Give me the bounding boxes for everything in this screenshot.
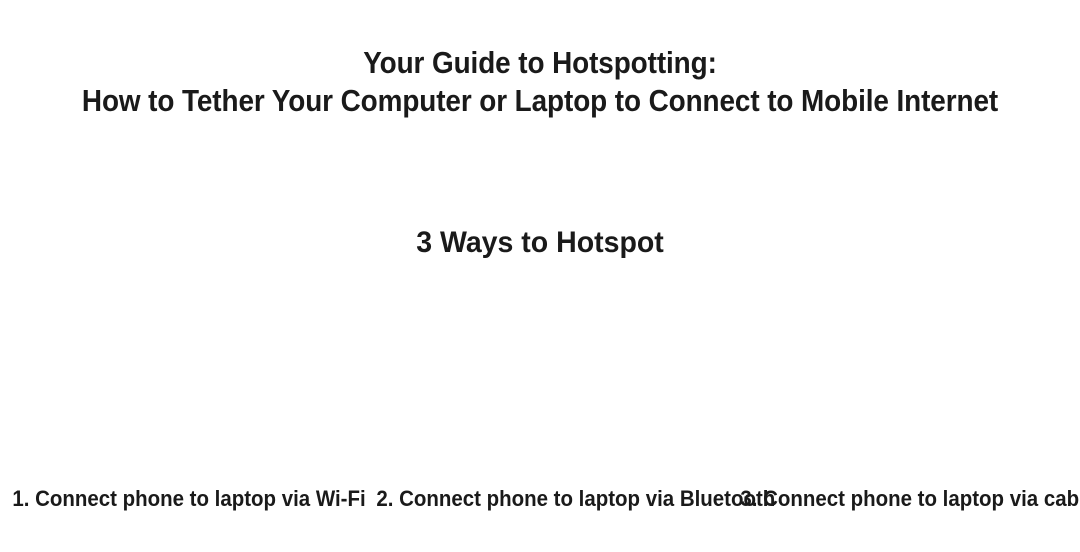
steps-illustration-row: [0, 285, 1080, 475]
step-illustration-1: [0, 285, 330, 475]
document-page: Your Guide to Hotspotting: How to Tether…: [0, 0, 1080, 552]
page-title: Your Guide to Hotspotting: How to Tether…: [0, 44, 1080, 120]
section-heading: 3 Ways to Hotspot: [27, 224, 1053, 262]
step-illustration-3: [750, 285, 1080, 475]
step-illustration-2: [375, 285, 705, 475]
step-caption-3: 3. Connect phone to laptop via cable: [740, 486, 1067, 512]
steps-caption-row: 1. Connect phone to laptop via Wi-Fi 2. …: [0, 486, 1080, 512]
title-line-1: Your Guide to Hotspotting:: [54, 44, 1026, 82]
step-caption-2: 2. Connect phone to laptop via Bluetooth: [376, 486, 703, 512]
title-line-2: How to Tether Your Computer or Laptop to…: [54, 82, 1026, 120]
step-caption-1: 1. Connect phone to laptop via Wi-Fi: [12, 486, 339, 512]
